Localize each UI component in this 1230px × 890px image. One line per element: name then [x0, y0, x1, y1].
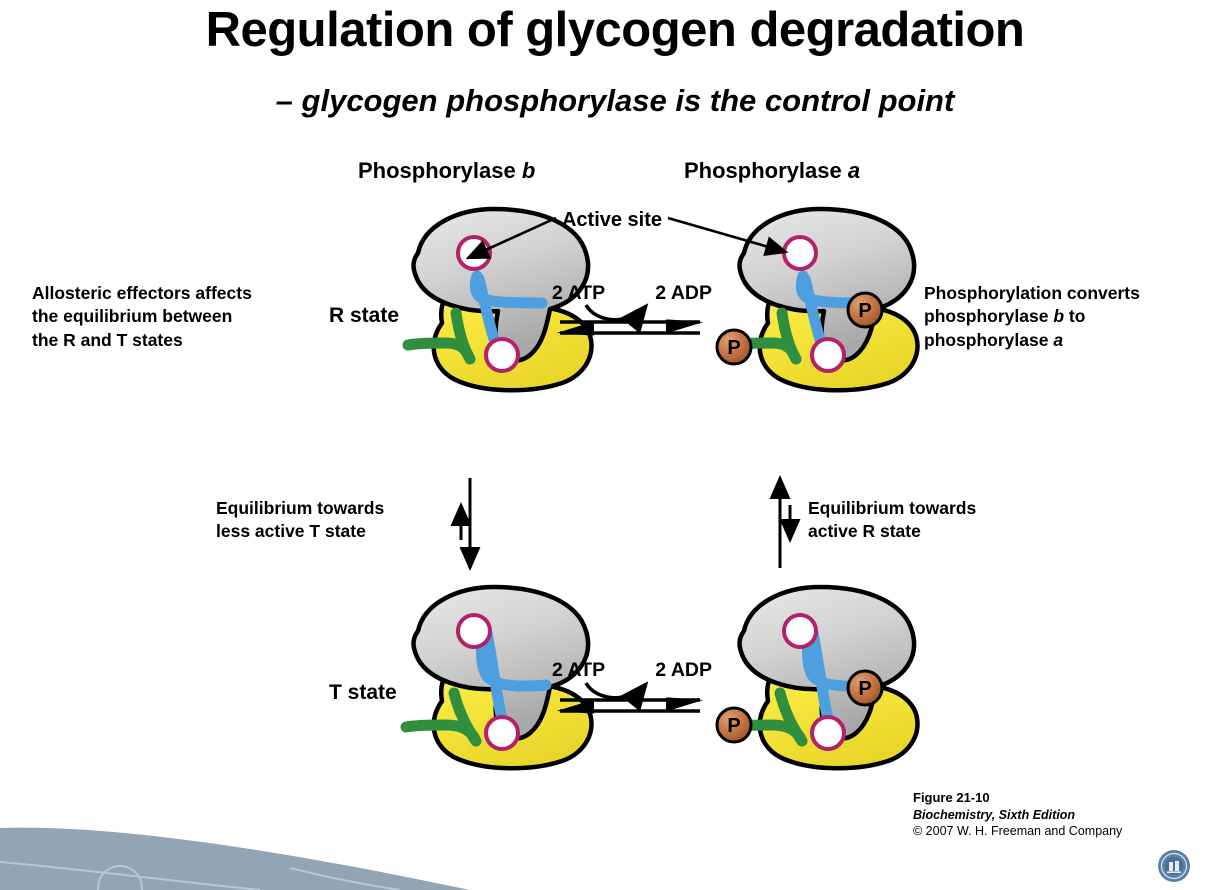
atp-label-bottom: 2 ATP — [552, 659, 605, 682]
adp-label-top: 2 ADP — [655, 282, 712, 305]
atp-adp-group-bottom: 2 ATP 2 ADP — [548, 659, 718, 682]
atp-label-top: 2 ATP — [552, 282, 605, 305]
state-label-t: T state — [329, 681, 397, 705]
state-label-r: R state — [329, 304, 399, 328]
active-site-leader-left — [468, 218, 556, 258]
equilibrium-arrow-right — [780, 478, 790, 568]
university-seal-logo — [1157, 849, 1191, 883]
adp-label-bottom: 2 ADP — [655, 659, 712, 682]
equilibrium-arrow-left — [461, 478, 470, 568]
slide-canvas: Regulation of glycogen degradation – gly… — [0, 0, 1230, 890]
reaction-arrow-bottom — [560, 683, 700, 711]
active-site-leader-right — [668, 218, 786, 252]
active-site-label: Active site — [557, 209, 667, 231]
atp-adp-group-top: 2 ATP 2 ADP — [548, 282, 718, 305]
reaction-arrow-top — [560, 305, 700, 333]
arrow-layer — [0, 0, 1230, 890]
